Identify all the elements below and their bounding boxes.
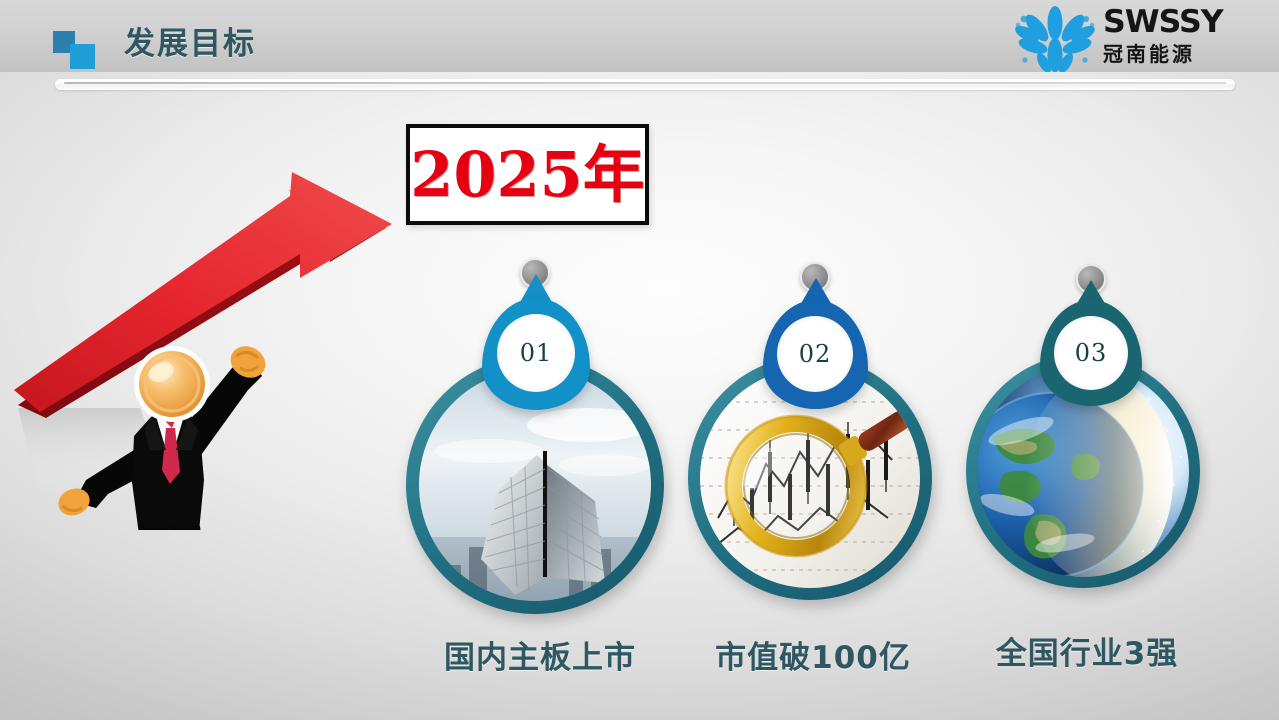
goal-item-02[interactable]: 02 市值破100亿 [683, 262, 953, 682]
businessman-arrow-illustration [0, 150, 420, 530]
logo-chinese-name: 冠南能源 [1103, 41, 1263, 67]
goal-badge-core-03: 03 [1054, 316, 1128, 390]
goal-number-01: 01 [520, 339, 553, 367]
company-logo: SWSSY 冠南能源 [1011, 4, 1267, 74]
goal-badge-core-01: 01 [497, 314, 575, 392]
goal-badge-core-02: 02 [777, 316, 853, 392]
page-title: 发展目标 [124, 22, 256, 66]
goal-item-01[interactable]: 01 国内主板上市 [400, 258, 680, 678]
goal-item-03[interactable]: 03 全国行业3强 [962, 264, 1232, 684]
logo-wordmark: SWSSY [1103, 6, 1266, 38]
year-callout-text: 2025年 [410, 143, 645, 207]
goal-number-03: 03 [1075, 339, 1108, 367]
logo-text-block: SWSSY 冠南能源 [1103, 6, 1263, 67]
slide-root: 发展目标 [0, 0, 1279, 720]
logo-petal-mark-icon [1011, 6, 1099, 72]
year-callout-box: 2025年 [406, 124, 649, 225]
header-divider [55, 79, 1235, 90]
goal-number-02: 02 [799, 340, 832, 368]
slide-header: 发展目标 [0, 0, 1279, 88]
goal-caption-03: 全国行业3强 [922, 628, 1252, 673]
decor-square-light-icon [70, 44, 95, 69]
